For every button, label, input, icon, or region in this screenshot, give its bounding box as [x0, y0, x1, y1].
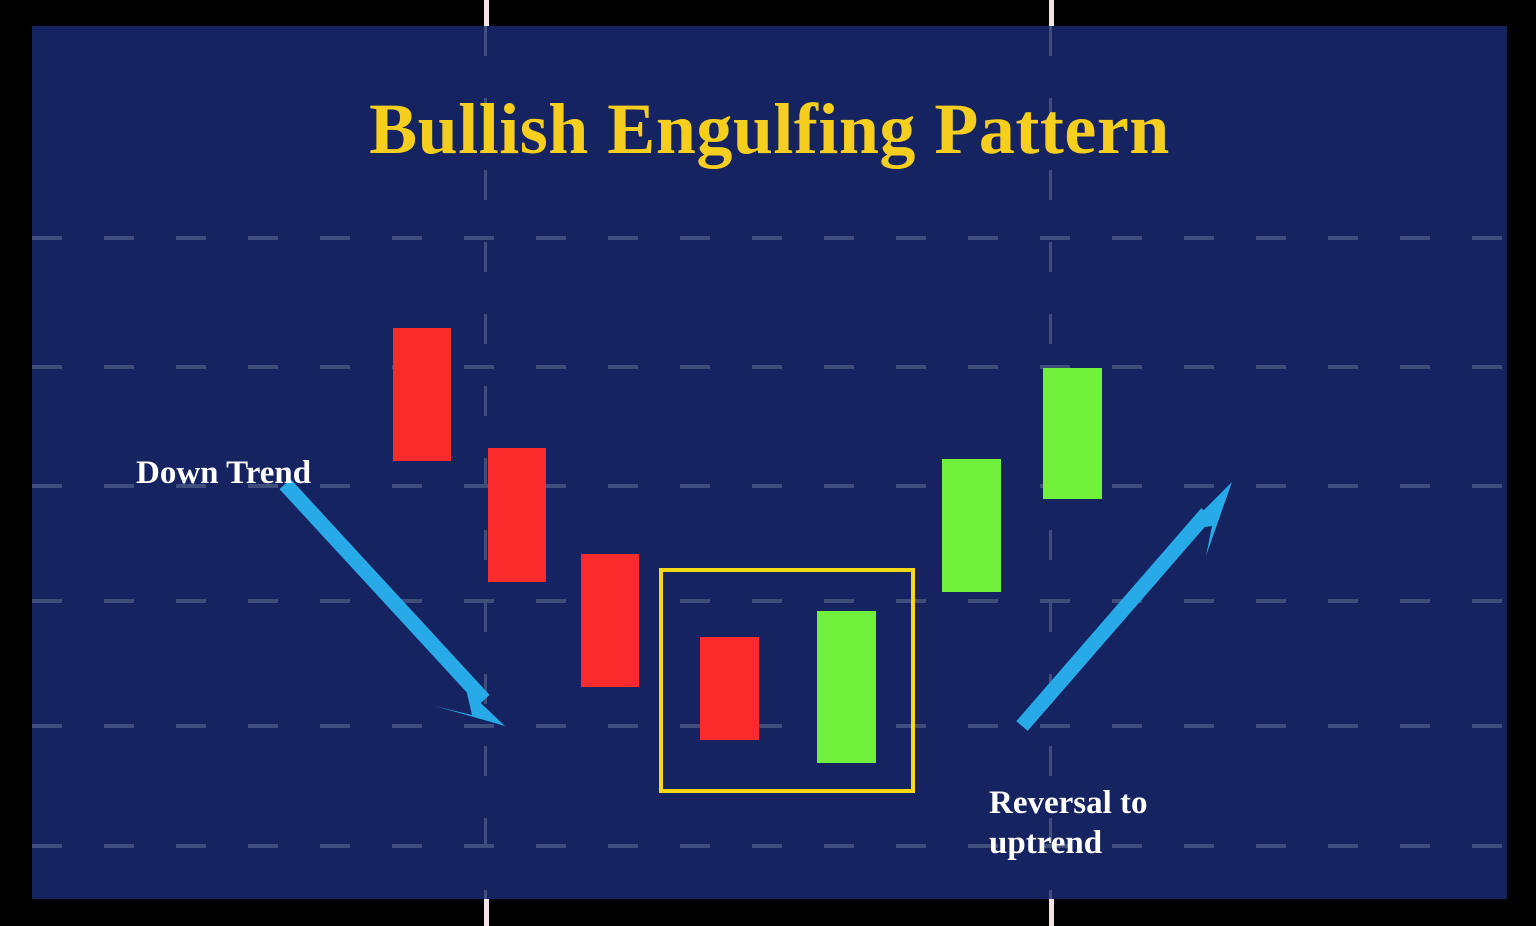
candle-bullish-1	[942, 459, 1001, 592]
annotation-reversal-to-uptrend: Reversal to uptrend	[989, 783, 1148, 864]
chart-title: Bullish Engulfing Pattern	[32, 88, 1507, 171]
candle-bearish-engulfed	[700, 637, 759, 740]
axis-tick-top	[484, 0, 489, 26]
gridline-horizontal	[32, 365, 1507, 369]
uptrend-arrow	[1022, 482, 1232, 726]
down-trend-arrow	[285, 484, 505, 726]
candle-bearish-2	[488, 448, 546, 582]
candle-bearish-1	[393, 328, 451, 461]
chart-canvas: Bullish Engulfing Pattern Down Trend Rev…	[0, 0, 1536, 926]
candle-bullish-2	[1043, 368, 1102, 499]
axis-tick-bottom	[1049, 899, 1054, 926]
axis-tick-top	[1049, 0, 1054, 26]
gridline-horizontal	[32, 236, 1507, 240]
annotation-down-trend: Down Trend	[136, 453, 311, 493]
axis-tick-bottom	[484, 899, 489, 926]
plot-panel: Bullish Engulfing Pattern Down Trend Rev…	[32, 26, 1507, 899]
candle-bullish-engulfing	[817, 611, 876, 763]
engulfing-highlight-box	[659, 568, 915, 793]
candle-bearish-3	[581, 554, 639, 687]
gridline-horizontal	[32, 844, 1507, 848]
